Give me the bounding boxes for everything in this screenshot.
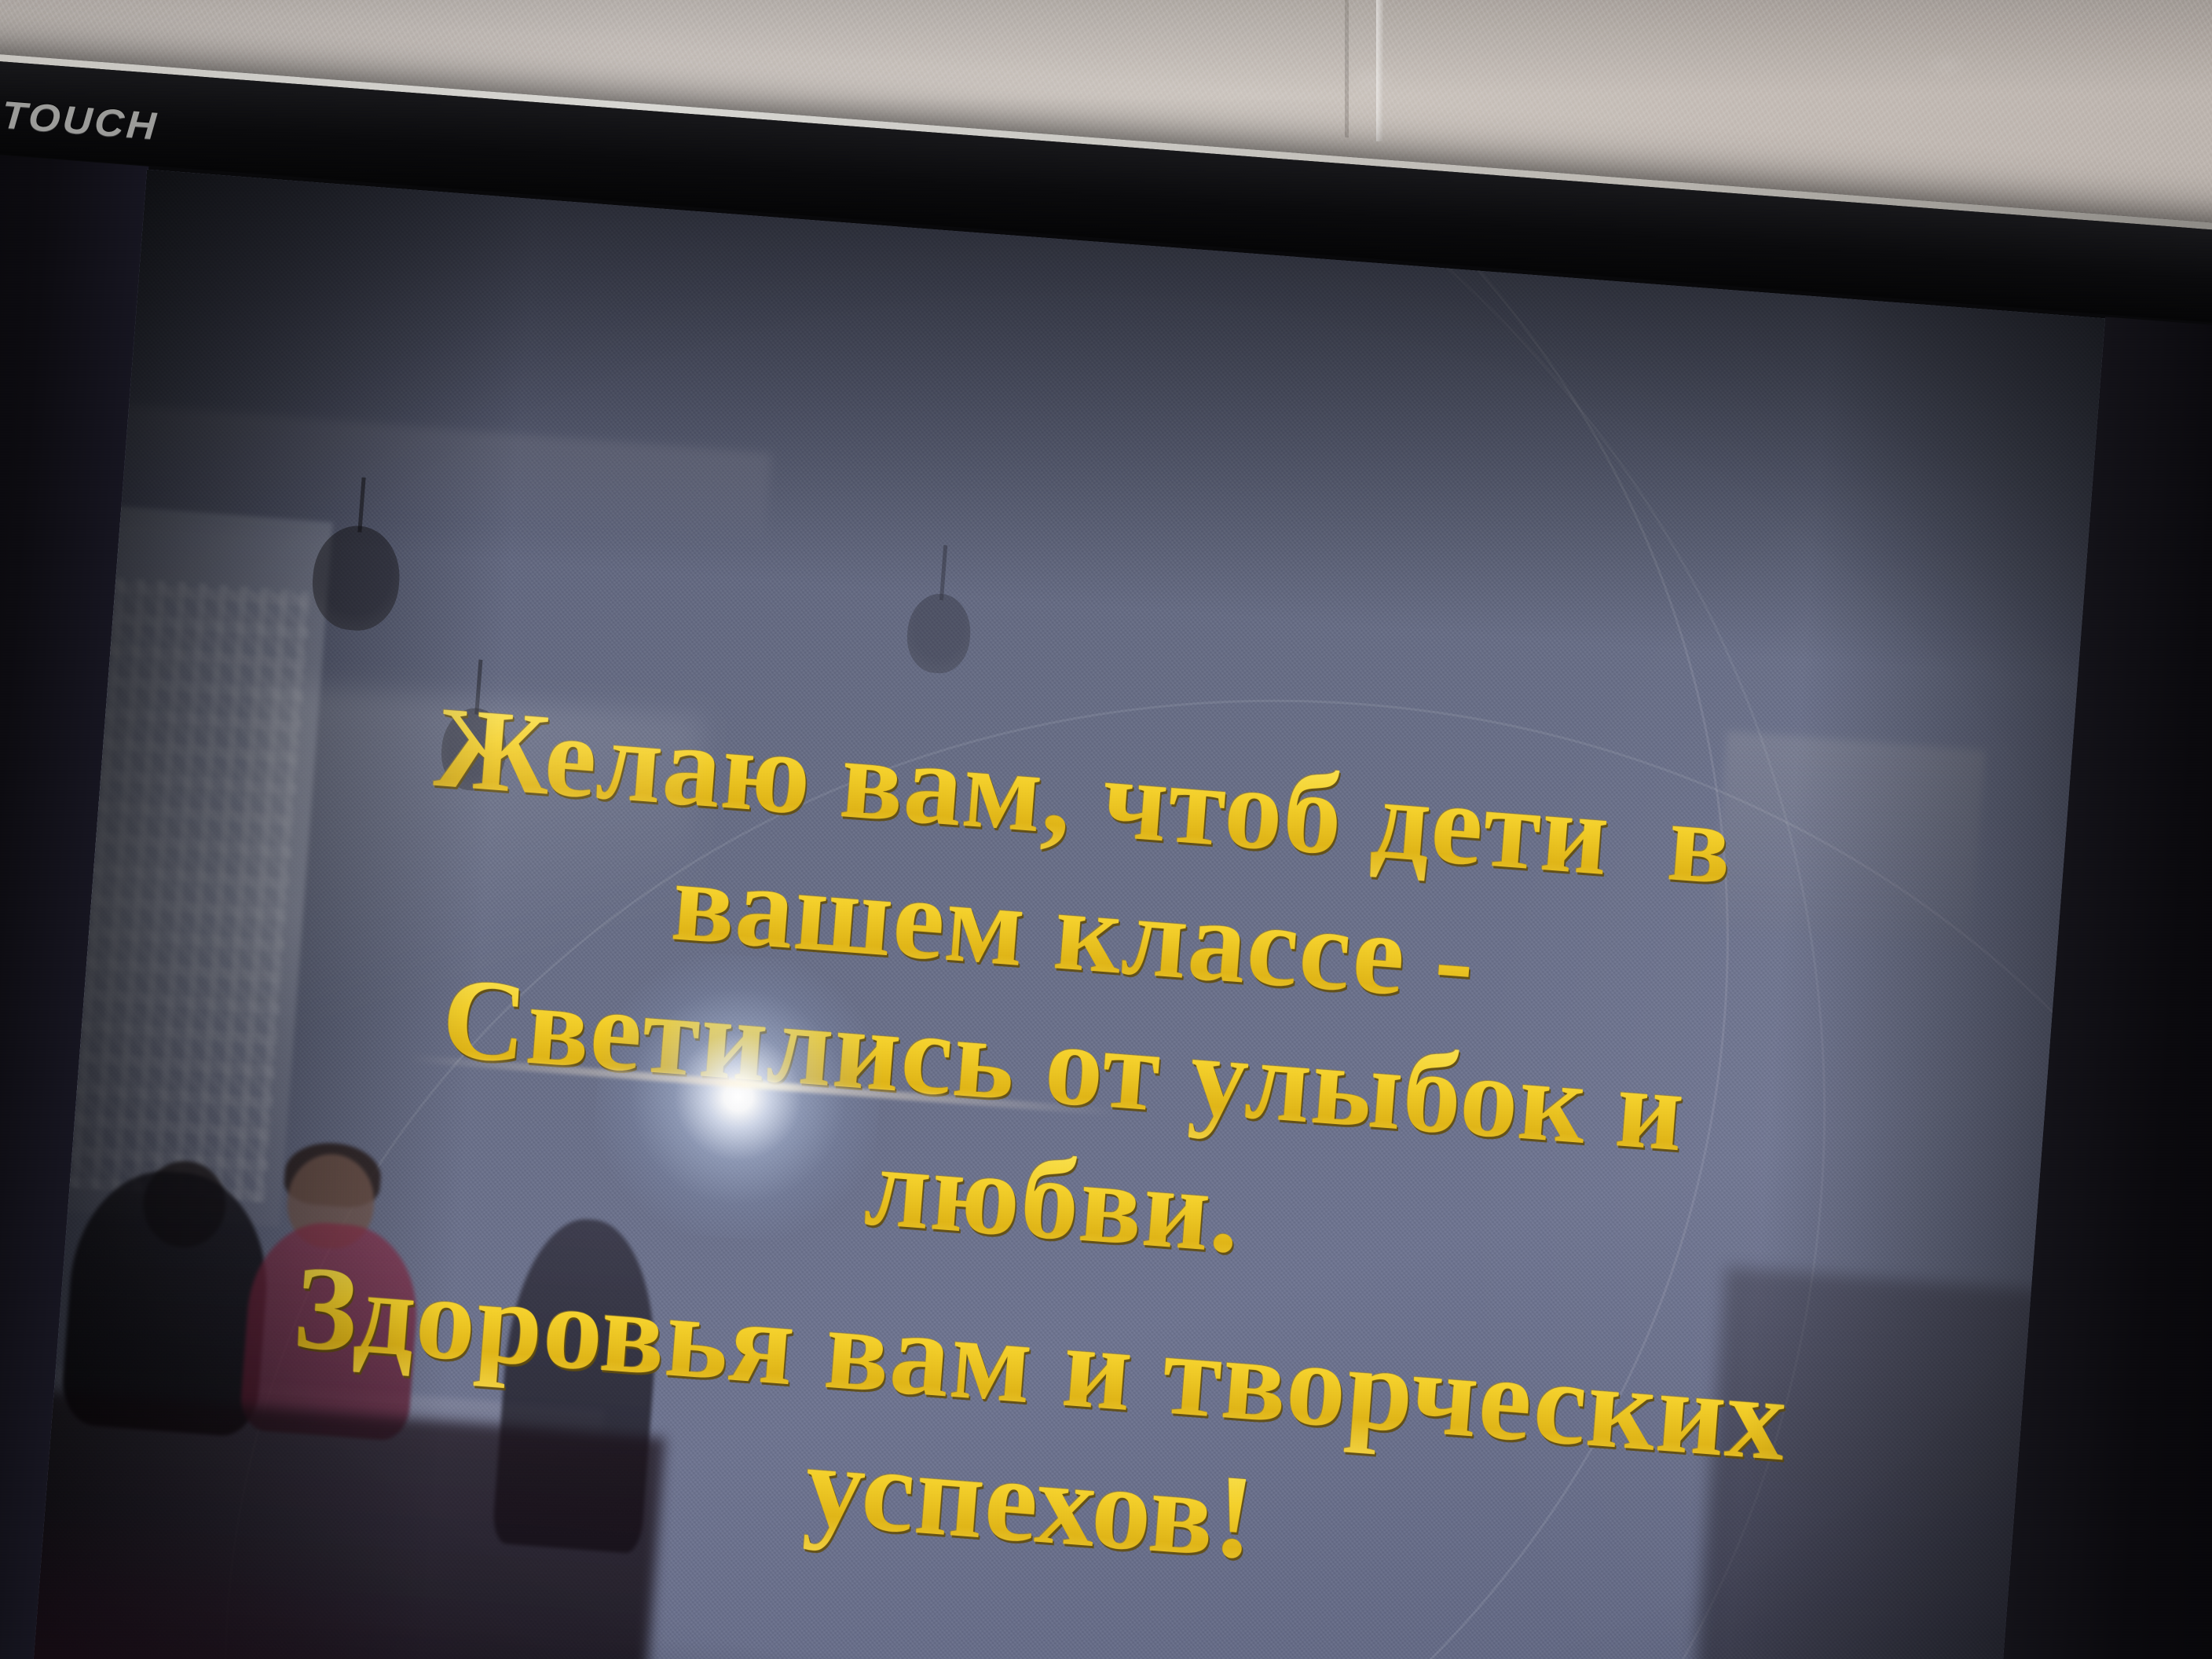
ceiling-lamp-icon — [310, 474, 407, 614]
lamp-rod — [474, 660, 482, 715]
reflection-wall-board — [1712, 731, 1986, 946]
wallpaper-seam — [1376, 0, 1383, 141]
slide-line-2: вашем классе - — [668, 833, 1480, 1029]
ceiling-lamp-icon — [906, 543, 977, 650]
screen-weave-texture — [21, 170, 2105, 1659]
reflection-ceiling — [59, 400, 771, 548]
lamp-rod — [939, 545, 947, 600]
lens-flare-horizontal — [410, 1054, 1115, 1115]
slide-arc-decoration — [21, 170, 1908, 1659]
lamp-shade — [438, 705, 509, 793]
reflection-person-pink — [239, 1218, 423, 1442]
reflection-desks — [52, 1368, 604, 1464]
slide-arc-shading — [1161, 170, 2105, 1659]
slide-arc-decoration — [21, 170, 1804, 1659]
photo-scene: MART TOUCH — [0, 0, 2212, 1659]
ceiling-lamp-icon — [441, 657, 513, 768]
reflection-foreground-dark — [21, 1389, 665, 1659]
lamp-shade — [309, 522, 404, 633]
reflection-person-dark-head — [140, 1158, 229, 1251]
reflection-person-third — [492, 1214, 665, 1554]
reflection-right-dark — [1673, 1266, 2055, 1659]
slide-line-6: успехов! — [800, 1415, 1261, 1587]
brand-label: MART TOUCH — [0, 82, 160, 149]
screen-vignette — [21, 170, 2105, 1659]
screen-corner-shadow — [21, 1493, 751, 1659]
lamp-rod — [357, 478, 365, 533]
slide-line-5: Здоровья вам и творческих — [290, 1237, 1793, 1489]
projector-hotspot — [587, 945, 890, 1248]
lamp-shade — [904, 591, 972, 676]
lens-flare-streak — [235, 683, 705, 1123]
slide-line-3: Светились от улыбок и — [438, 951, 1689, 1180]
slide-line-4: любви. — [861, 1119, 1246, 1281]
slide-text-block: Желаю вам, чтоб дети в вашем классе - Св… — [21, 170, 2105, 1659]
smart-touch-display[interactable]: MART TOUCH — [0, 47, 2212, 1659]
slide-arc-decoration — [152, 622, 2105, 1659]
projection-screen[interactable]: Желаю вам, чтоб дети в вашем классе - Св… — [21, 170, 2105, 1659]
slide-line-1: Желаю вам, чтоб дети в — [430, 680, 1737, 914]
wallpaper-seam-shadow — [1345, 0, 1349, 137]
